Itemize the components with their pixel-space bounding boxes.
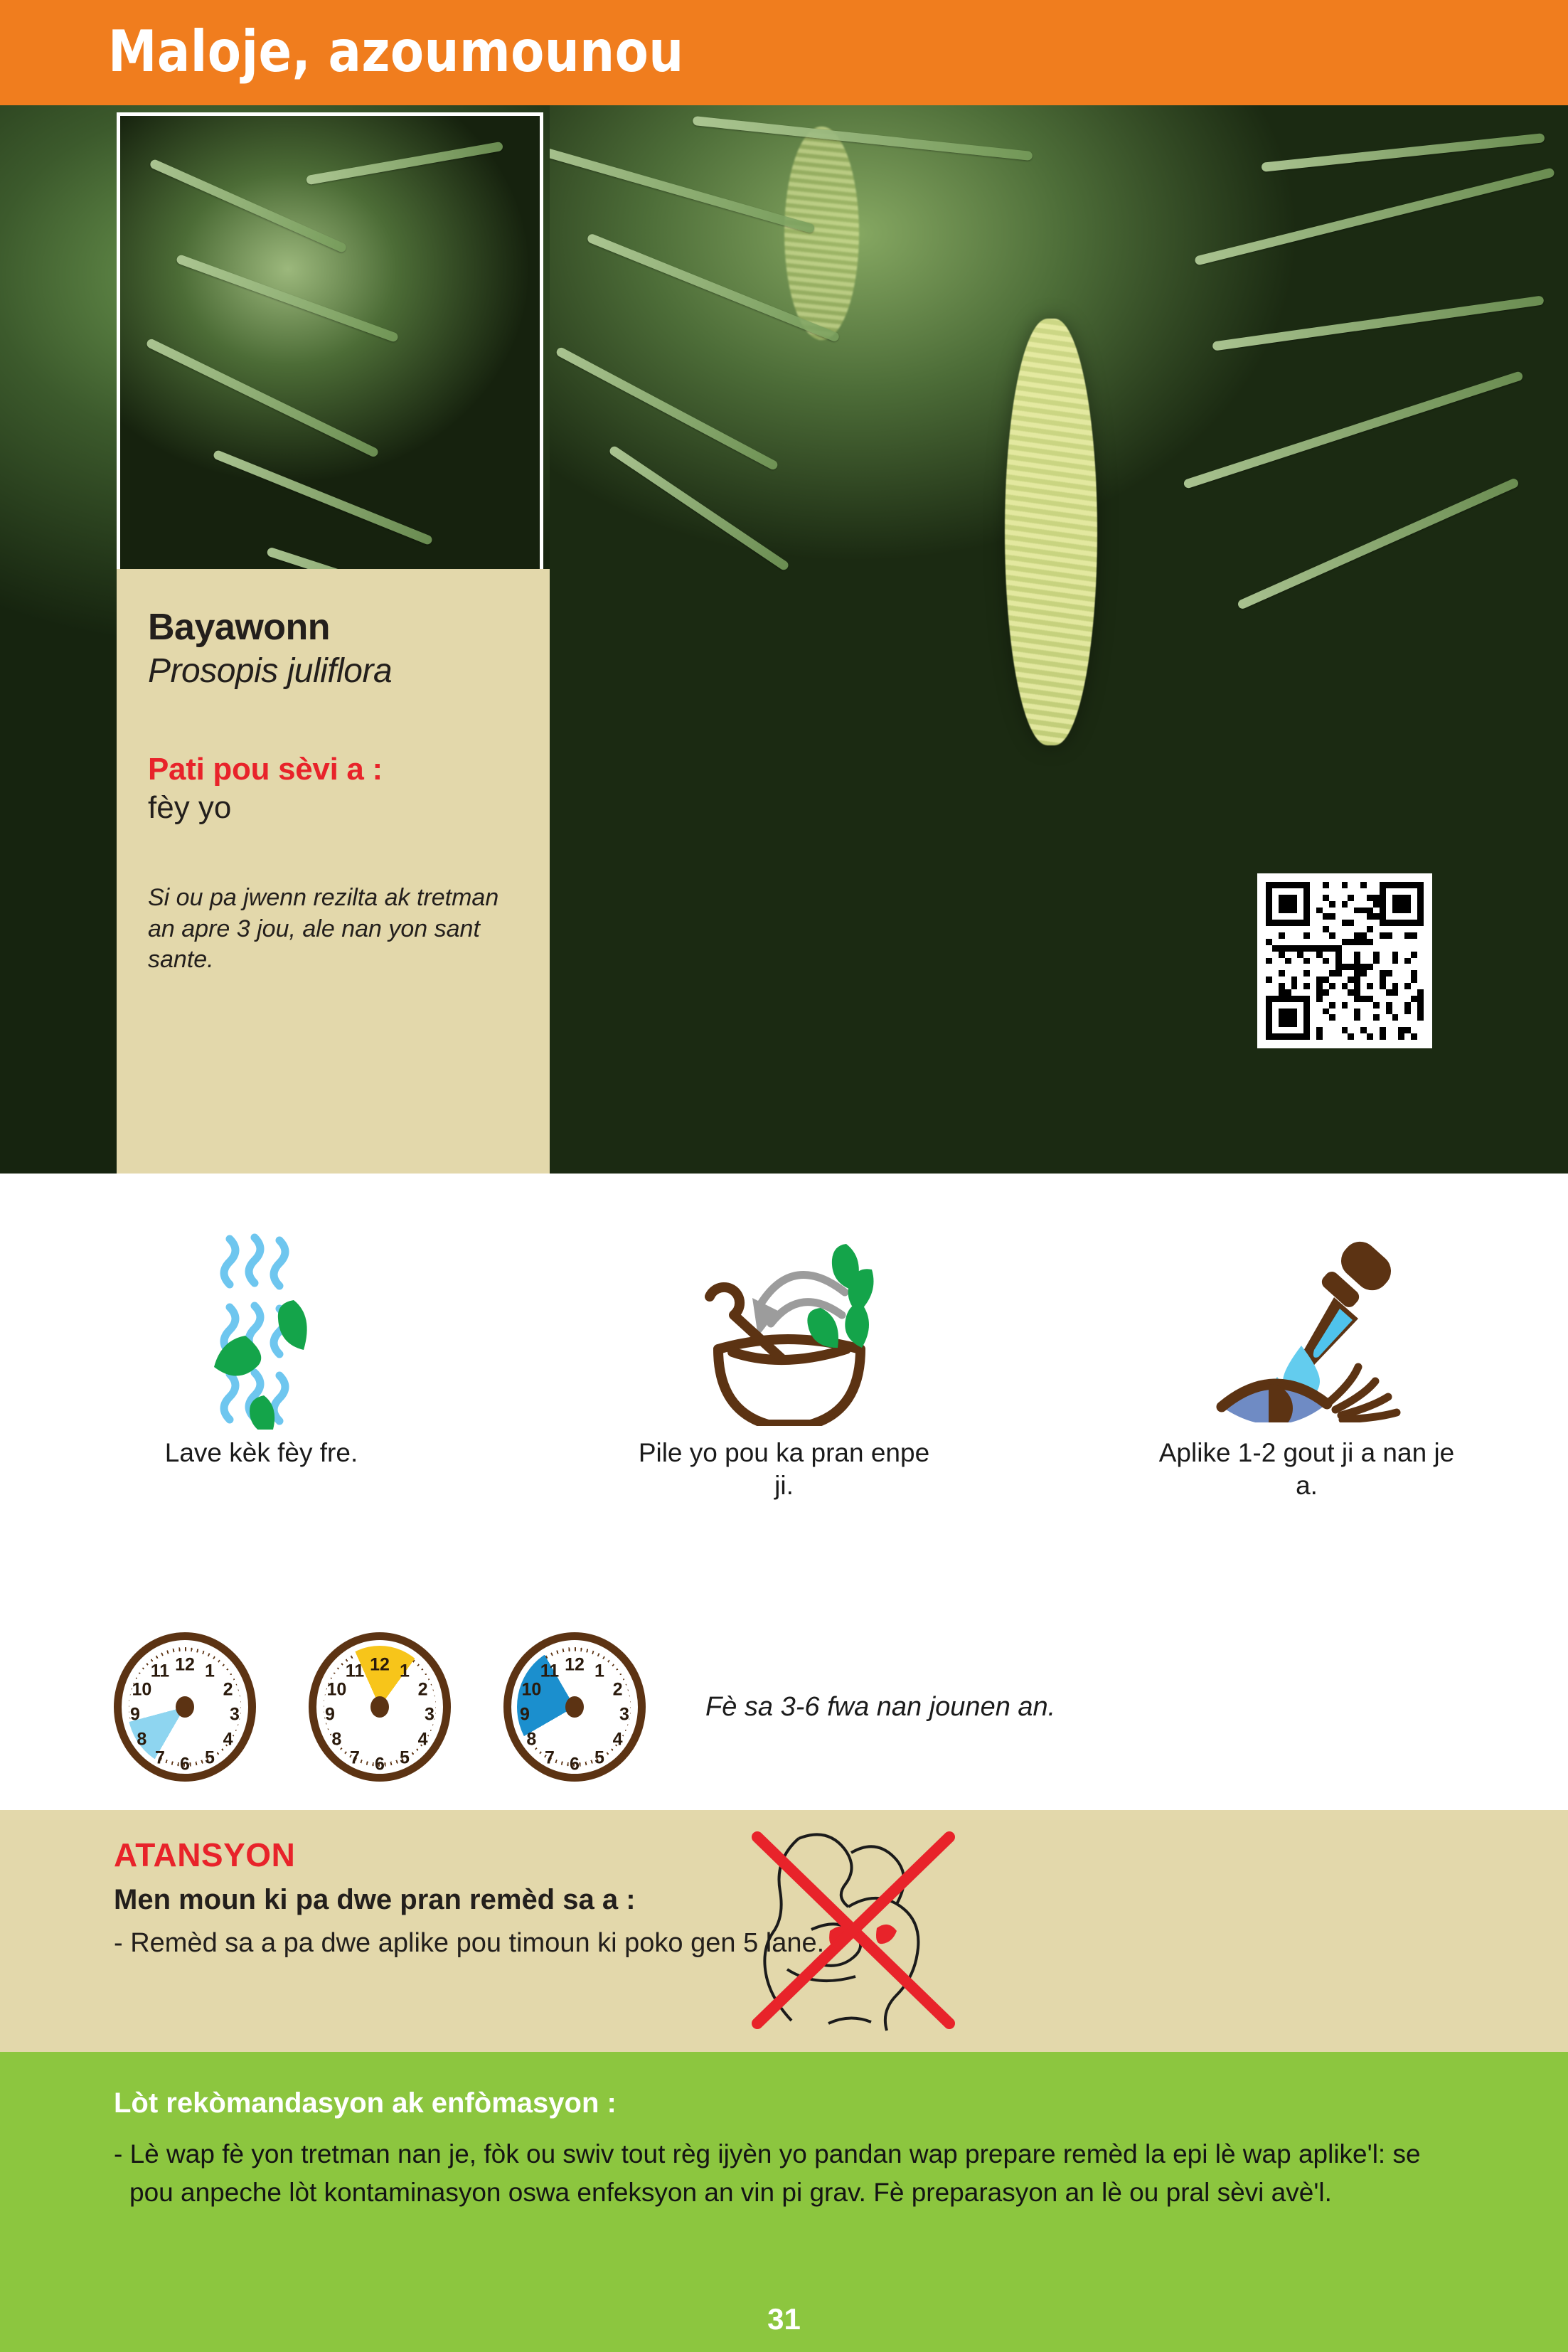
clock-numeral: 12 [175,1655,195,1676]
plant-common-name: Bayawonn [148,606,518,649]
clock-numeral: 1 [205,1661,215,1682]
no-breastfeeding-icon [743,1823,964,2036]
page-number: 31 [0,2302,1568,2336]
clock-numeral: 5 [594,1747,604,1768]
clock-center-hub [176,1696,194,1718]
plant-info-panel: Bayawonn Prosopis juliflora Pati pou sèv… [117,569,550,1174]
qr-code-pattern [1266,882,1424,1040]
hero-photo: Bayawonn Prosopis juliflora Pati pou sèv… [0,105,1568,1174]
clock-numeral: 8 [331,1730,341,1750]
clock-numeral: 4 [418,1730,428,1750]
eye-dropper-icon [1200,1209,1414,1437]
clock-evening: 121234567891011 [503,1632,646,1782]
clock-numeral: 9 [130,1705,140,1725]
step-2: Pile yo pou ka pran enpe ji. [523,1209,1045,1565]
qr-code[interactable] [1257,873,1432,1048]
clock-numeral: 11 [346,1661,364,1682]
step-1: Lave kèk fèy fre. [0,1209,523,1565]
clock-numeral: 3 [619,1705,629,1725]
clock-numeral: 4 [613,1730,623,1750]
clock-numeral: 12 [370,1655,390,1676]
clock-numeral: 6 [375,1755,385,1775]
wash-leaves-icon [180,1209,343,1437]
clock-midday: 121234567891011 [309,1632,451,1782]
preparation-steps: Lave kèk fèy fre. [0,1209,1568,1565]
clock-numeral: 9 [520,1705,530,1725]
clock-center-hub [565,1696,584,1718]
clock-numeral: 9 [325,1705,335,1725]
clock-numeral: 2 [223,1680,233,1701]
clock-numeral: 2 [613,1680,623,1701]
clock-numeral: 5 [205,1747,215,1768]
warning-block: ATANSYON Men moun ki pa dwe pran remèd s… [0,1810,1568,2052]
clock-numeral: 8 [526,1730,536,1750]
clock-numeral: 2 [418,1680,428,1701]
plant-latin-name: Prosopis juliflora [148,651,518,691]
clock-numeral: 7 [545,1747,555,1768]
part-used-label: Pati pou sèvi a : [148,752,518,787]
clock-numeral: 4 [223,1730,233,1750]
dosage-frequency-caption: Fè sa 3-6 fwa nan jounen an. [705,1692,1055,1723]
clock-numeral: 11 [151,1661,169,1682]
recommendations-body: - Lè wap fè yon tretman nan je, fòk ou s… [114,2135,1451,2211]
clock-numeral: 12 [565,1655,585,1676]
flower-catkin-secondary [784,127,859,340]
page-title: Maloje, azoumounou [108,18,684,85]
dosage-schedule: 121234567891011 121234567891011 12123456… [114,1629,1465,1785]
mortar-pestle-icon [681,1209,887,1437]
recommendations-block: Lòt rekòmandasyon ak enfòmasyon : - Lè w… [0,2052,1568,2352]
clock-numeral: 1 [594,1661,604,1682]
clock-numeral: 7 [155,1747,165,1768]
clock-numeral: 10 [521,1680,541,1701]
clock-numeral: 10 [132,1680,151,1701]
part-used-value: fèy yo [148,790,518,826]
clock-numeral: 3 [230,1705,240,1725]
recommendations-title: Lòt rekòmandasyon ak enfòmasyon : [114,2087,1454,2119]
clock-numeral: 10 [326,1680,346,1701]
clock-numeral: 11 [540,1661,559,1682]
clock-numeral: 1 [400,1661,410,1682]
clock-center-hub [370,1696,389,1718]
step-2-caption: Pile yo pou ka pran enpe ji. [635,1437,934,1503]
step-3: Aplike 1-2 gout ji a nan je a. [1045,1209,1568,1565]
clock-morning: 121234567891011 [114,1632,256,1782]
clock-numeral: 8 [137,1730,146,1750]
clock-numeral: 7 [350,1747,360,1768]
step-3-caption: Aplike 1-2 gout ji a nan je a. [1158,1437,1456,1503]
page-header: Maloje, azoumounou [0,0,1568,105]
step-1-caption: Lave kèk fèy fre. [165,1437,358,1469]
treatment-note: Si ou pa jwenn rezilta ak tretman an apr… [148,883,518,976]
clock-numeral: 5 [400,1747,410,1768]
clock-numeral: 6 [570,1755,580,1775]
clock-numeral: 6 [180,1755,190,1775]
flower-catkin-main [1005,319,1097,745]
clock-numeral: 3 [425,1705,434,1725]
